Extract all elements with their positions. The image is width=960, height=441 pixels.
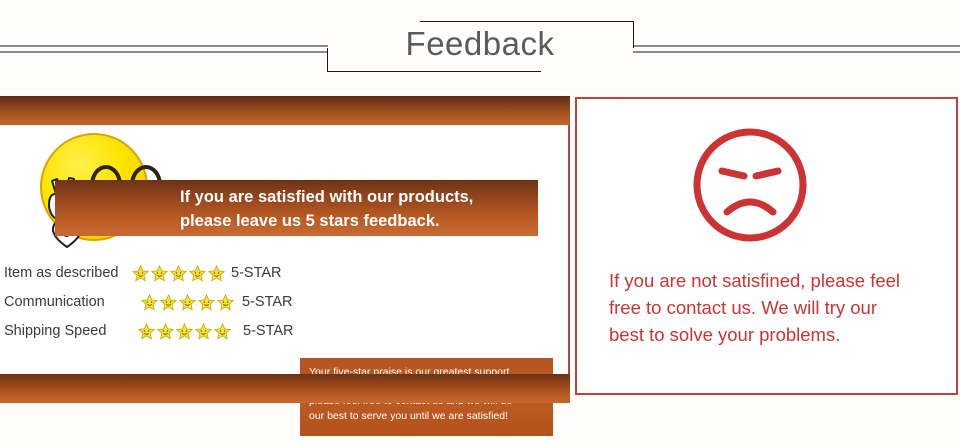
star-rating-group [132, 265, 225, 282]
ratings-list: Item as described 5-STAR Communication 5… [4, 260, 294, 347]
header-frame-top [420, 21, 634, 22]
satisfied-panel: If you are satisfied with our products, … [0, 96, 570, 403]
star-icon [208, 265, 225, 282]
star-rating-group [138, 323, 231, 340]
not-satisfied-panel: If you are not satisfined, please feel f… [575, 97, 958, 395]
star-icon [132, 265, 149, 282]
panel-top-bar [0, 96, 570, 125]
rating-value: 5-STAR [231, 265, 282, 281]
page-header: Feedback [0, 0, 960, 92]
satisfied-banner-text: If you are satisfied with our products, … [180, 180, 538, 236]
header-frame-bottom [327, 71, 541, 72]
rating-label: Communication [4, 294, 132, 310]
rating-row: Communication 5-STAR [4, 289, 294, 315]
not-satisfied-line-2: free to contact us. We will try our [609, 294, 949, 321]
star-icon [195, 323, 212, 340]
panel-bottom-bar [0, 374, 570, 403]
star-icon [179, 294, 196, 311]
not-satisfied-message: If you are not satisfined, please feel f… [609, 267, 949, 348]
star-icon [138, 323, 155, 340]
rating-row: Shipping Speed 5-STAR [4, 318, 294, 344]
star-icon [214, 323, 231, 340]
star-icon [151, 265, 168, 282]
page-title: Feedback [0, 24, 960, 64]
satisfied-banner: If you are satisfied with our products, … [55, 180, 538, 236]
star-icon [189, 265, 206, 282]
not-satisfied-line-3: best to solve your problems. [609, 321, 949, 348]
sad-face-icon [689, 124, 811, 246]
rating-row: Item as described 5-STAR [4, 260, 294, 286]
banner-line-2: please leave us 5 stars feedback. [180, 209, 538, 233]
star-icon [160, 294, 177, 311]
star-rating-group [141, 294, 234, 311]
banner-line-1: If you are satisfied with our products, [180, 185, 538, 209]
praise-line-4: our best to serve you until we are satis… [309, 409, 544, 424]
rating-value: 5-STAR [242, 294, 293, 310]
star-icon [157, 323, 174, 340]
star-icon [141, 294, 158, 311]
rating-label: Item as described [4, 265, 132, 281]
star-icon [176, 323, 193, 340]
star-icon [170, 265, 187, 282]
star-icon [198, 294, 215, 311]
rating-value: 5-STAR [243, 323, 294, 339]
not-satisfied-line-1: If you are not satisfined, please feel [609, 267, 949, 294]
star-icon [217, 294, 234, 311]
rating-label: Shipping Speed [4, 323, 132, 339]
